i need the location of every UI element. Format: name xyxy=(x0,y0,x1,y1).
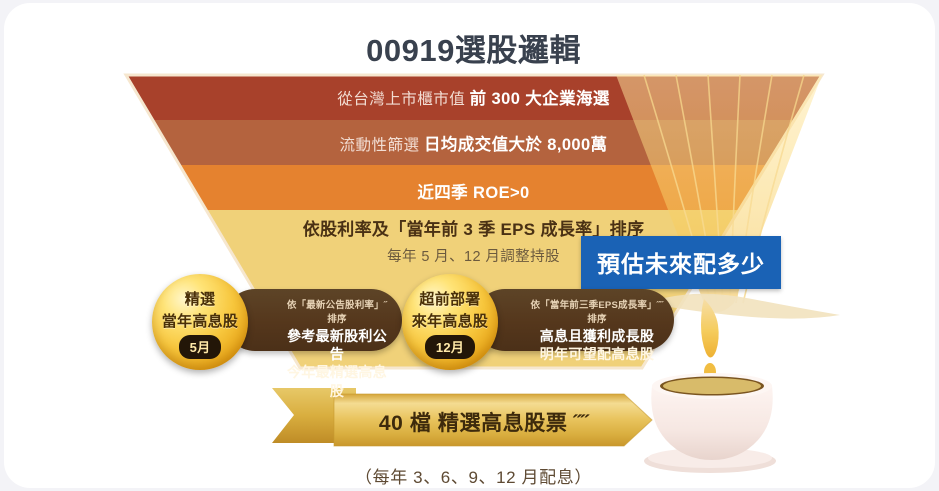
strategy-december-circle-line1: 超前部署 xyxy=(402,288,498,309)
strategy-may-line2: 今年最精選高息股 xyxy=(282,363,392,399)
strategy-december-line1: 高息且獲利成長股 xyxy=(530,327,664,345)
strategy-may-line1: 參考最新股利公告 xyxy=(282,327,392,363)
strategy-pill-may: 依「最新公告股利率」˝ 排序 參考最新股利公告 今年最精選高息股 xyxy=(224,289,402,351)
footer-note: （每年 3、6、9、12 月配息） xyxy=(4,463,935,488)
strategy-may-note: 依「最新公告股利率」˝ 排序 xyxy=(282,297,392,325)
strategy-december-circle-line2: 來年高息股 xyxy=(402,310,498,331)
coffee-cup-icon xyxy=(644,373,776,473)
strategy-may-text: 依「最新公告股利率」˝ 排序 參考最新股利公告 今年最精選高息股 xyxy=(282,297,392,400)
ribbon-label: 40 檔 精選高息股票 ˝˝ xyxy=(334,407,634,437)
strategy-december-text: 依「當年前三季EPS成長率」˝˝ 排序 高息且獲利成長股 明年可望配高息股 xyxy=(530,297,664,363)
strategy-december-month: 12月 xyxy=(425,335,475,359)
strategy-may-circle-line2: 當年高息股 xyxy=(152,310,248,331)
strategy-circle-may: 精選 當年高息股 5月 xyxy=(152,274,248,370)
strategy-may-circle-line1: 精選 xyxy=(152,288,248,309)
strategy-december-note: 依「當年前三季EPS成長率」˝˝ 排序 xyxy=(530,297,664,325)
strategy-pill-december: 依「當年前三季EPS成長率」˝˝ 排序 高息且獲利成長股 明年可望配高息股 xyxy=(474,289,674,351)
strategy-may-month: 5月 xyxy=(179,335,222,359)
infographic-card: 00919選股邏輯 xyxy=(4,3,935,488)
strategy-circle-december: 超前部署 來年高息股 12月 xyxy=(402,274,498,370)
strategy-december-line2: 明年可望配高息股 xyxy=(530,345,664,363)
forecast-badge: 預估未來配多少 xyxy=(581,236,781,289)
